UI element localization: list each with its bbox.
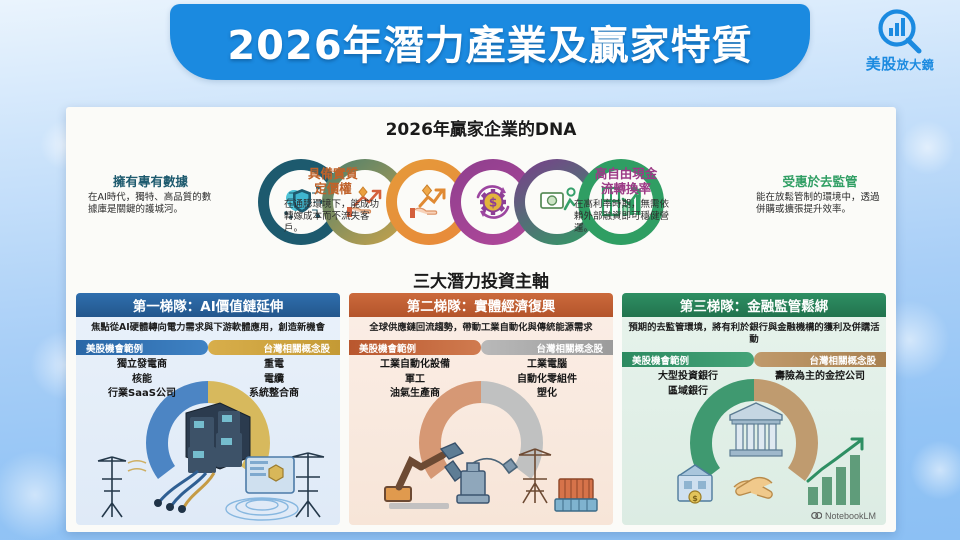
list-item: 大型投資銀行 bbox=[622, 370, 754, 385]
brand-logo[interactable]: 美股放大鏡 bbox=[848, 6, 952, 82]
pillar-heading-3: 第三梯隊：金融監管鬆綁 bbox=[622, 293, 886, 317]
list-item: 軍工 bbox=[349, 373, 481, 388]
list-item: 系統整合商 bbox=[208, 387, 340, 402]
pillar-panels: 第一梯隊：AI價值鏈延伸 焦點從AI硬體轉向電力需求與下游軟體應用，創造新機會 … bbox=[76, 293, 886, 525]
list-item: 自動化零組件 bbox=[481, 373, 613, 388]
dna-item-title-2: 具備實質 定價權 bbox=[284, 167, 382, 197]
pillar-panel-2[interactable]: 第二梯隊：實體經濟復興 全球供應鏈回流趨勢，帶動工業自動化與傳統能源需求 美股機… bbox=[349, 293, 613, 525]
dna-item-desc-6: 能在放鬆管制的環境中，透過併購或擴張提升效率。 bbox=[756, 192, 884, 216]
list-item: 區域銀行 bbox=[622, 385, 754, 400]
cash-flow-icon bbox=[535, 181, 579, 223]
brand-name-bold: 美股 bbox=[866, 55, 897, 73]
pillar-panel-3[interactable]: 第三梯隊：金融監管鬆綁 預期的去監管環境，將有利於銀行與金融機構的獲利及併購活動… bbox=[622, 293, 886, 525]
notebooklm-watermark: NotebookLM bbox=[811, 510, 876, 521]
pillar-heading-1: 第一梯隊：AI價值鏈延伸 bbox=[76, 293, 340, 317]
brand-name: 美股放大鏡 bbox=[848, 57, 952, 72]
dna-item-title-6: 受惠於去監管 bbox=[756, 175, 884, 190]
list-item: 油氣生產商 bbox=[349, 387, 481, 402]
list-item: 工業自動化設備 bbox=[349, 358, 481, 373]
svg-text:$: $ bbox=[692, 494, 698, 503]
col-head-us-1: 美股機會範例 bbox=[76, 340, 208, 355]
pillar-subtitle-1: 焦點從AI硬體轉向電力需求與下游軟體應用，創造新機會 bbox=[76, 317, 340, 337]
pillar-subtitle-3: 預期的去監管環境，將有利於銀行與金融機構的獲利及併購活動 bbox=[622, 317, 886, 349]
pillar-list-us-2: 工業自動化設備 軍工 油氣生產商 bbox=[349, 358, 481, 402]
list-item: 獨立發電商 bbox=[76, 358, 208, 373]
dna-item-title-5: 高自由現金 流轉換率 bbox=[574, 167, 678, 197]
list-item: 核能 bbox=[76, 373, 208, 388]
pillars-section-title: 三大潛力投資主軸 bbox=[66, 267, 896, 292]
page-header: 2026年潛力產業及贏家特質 美股放大鏡 bbox=[0, 0, 960, 96]
pillar-heading-2: 第二梯隊：實體經濟復興 bbox=[349, 293, 613, 317]
dna-item-title-2-line1: 具備實質 bbox=[308, 166, 358, 181]
dna-item-title-5-line2: 流轉換率 bbox=[601, 181, 651, 196]
col-head-tw-1: 台灣相關概念股 bbox=[208, 340, 340, 355]
watermark-label: NotebookLM bbox=[825, 511, 876, 521]
bokeh-dot bbox=[910, 440, 960, 500]
dna-item-desc-2: 在通膨環境下，能成功轉嫁成本而不流失客戶。 bbox=[284, 199, 382, 235]
brand-name-small: 放大鏡 bbox=[897, 58, 935, 72]
list-item: 電纜 bbox=[208, 373, 340, 388]
pillar-list-tw-1: 重電 電纜 系統整合商 bbox=[208, 358, 340, 402]
list-item: 塑化 bbox=[481, 387, 613, 402]
pillar-lists-1: 獨立發電商 核能 行業SaaS公司 重電 電纜 系統整合商 bbox=[76, 358, 340, 402]
dna-item-title-2-line2: 定價權 bbox=[314, 181, 352, 196]
pillar-panel-1[interactable]: 第一梯隊：AI價值鏈延伸 焦點從AI硬體轉向電力需求與下游軟體應用，創造新機會 … bbox=[76, 293, 340, 525]
notebooklm-icon bbox=[811, 510, 822, 521]
pillar-column-heads-2: 美股機會範例 台灣相關概念股 bbox=[349, 340, 613, 355]
pillar-list-tw-3: 壽險為主的金控公司 bbox=[754, 370, 886, 399]
list-item: 重電 bbox=[208, 358, 340, 373]
pillar-lists-3: 大型投資銀行 區域銀行 壽險為主的金控公司 bbox=[622, 370, 886, 399]
list-item: 行業SaaS公司 bbox=[76, 387, 208, 402]
col-head-us-2: 美股機會範例 bbox=[349, 340, 481, 355]
infographic-card: 2026年贏家企業的DNA bbox=[66, 107, 896, 532]
bokeh-dot bbox=[900, 120, 955, 175]
title-plate: 2026年潛力產業及贏家特質 bbox=[170, 4, 810, 80]
pillar-lists-2: 工業自動化設備 軍工 油氣生產商 工業電腦 自動化零組件 塑化 bbox=[349, 358, 613, 402]
dna-item-title-1: 擁有專有數據 bbox=[88, 175, 213, 190]
dna-item-title-5-line1: 高自由現金 bbox=[595, 166, 658, 181]
dna-item-label-6: 受惠於去監管 能在放鬆管制的環境中，透過併購或擴張提升效率。 bbox=[756, 175, 884, 216]
page-title: 2026年潛力產業及贏家特質 bbox=[170, 4, 810, 80]
pillar-list-tw-2: 工業電腦 自動化零組件 塑化 bbox=[481, 358, 613, 402]
dollar-gear-cycle-icon: $ bbox=[470, 180, 516, 224]
svg-text:$: $ bbox=[489, 196, 497, 210]
pillar-list-us-1: 獨立發電商 核能 行業SaaS公司 bbox=[76, 358, 208, 402]
hand-rising-arrow-icon bbox=[407, 181, 451, 223]
dna-item-label-5: 高自由現金 流轉換率 在高利率時期，無需依賴外部融資即可穩健營運。 bbox=[574, 167, 678, 235]
col-head-tw-3: 台灣相關概念股 bbox=[754, 352, 886, 367]
col-head-tw-2: 台灣相關概念股 bbox=[481, 340, 613, 355]
dna-item-desc-5: 在高利率時期，無需依賴外部融資即可穩健營運。 bbox=[574, 199, 678, 235]
dna-ring-row: $ bbox=[66, 137, 896, 267]
magnifier-bar-chart-icon bbox=[873, 6, 927, 56]
list-item: 壽險為主的金控公司 bbox=[754, 370, 886, 385]
pillar-column-heads-1: 美股機會範例 台灣相關概念股 bbox=[76, 340, 340, 355]
col-head-us-3: 美股機會範例 bbox=[622, 352, 754, 367]
dna-item-label-1: 擁有專有數據 在AI時代，獨特、高品質的數據庫是關鍵的護城河。 bbox=[88, 175, 213, 216]
list-item: 工業電腦 bbox=[481, 358, 613, 373]
dna-item-label-2: 具備實質 定價權 在通膨環境下，能成功轉嫁成本而不流失客戶。 bbox=[284, 167, 382, 235]
dna-item-desc-1: 在AI時代，獨特、高品質的數據庫是關鍵的護城河。 bbox=[88, 192, 213, 216]
pillar-column-heads-3: 美股機會範例 台灣相關概念股 bbox=[622, 352, 886, 367]
pillar-subtitle-2: 全球供應鏈回流趨勢，帶動工業自動化與傳統能源需求 bbox=[349, 317, 613, 337]
pillar-list-us-3: 大型投資銀行 區域銀行 bbox=[622, 370, 754, 399]
